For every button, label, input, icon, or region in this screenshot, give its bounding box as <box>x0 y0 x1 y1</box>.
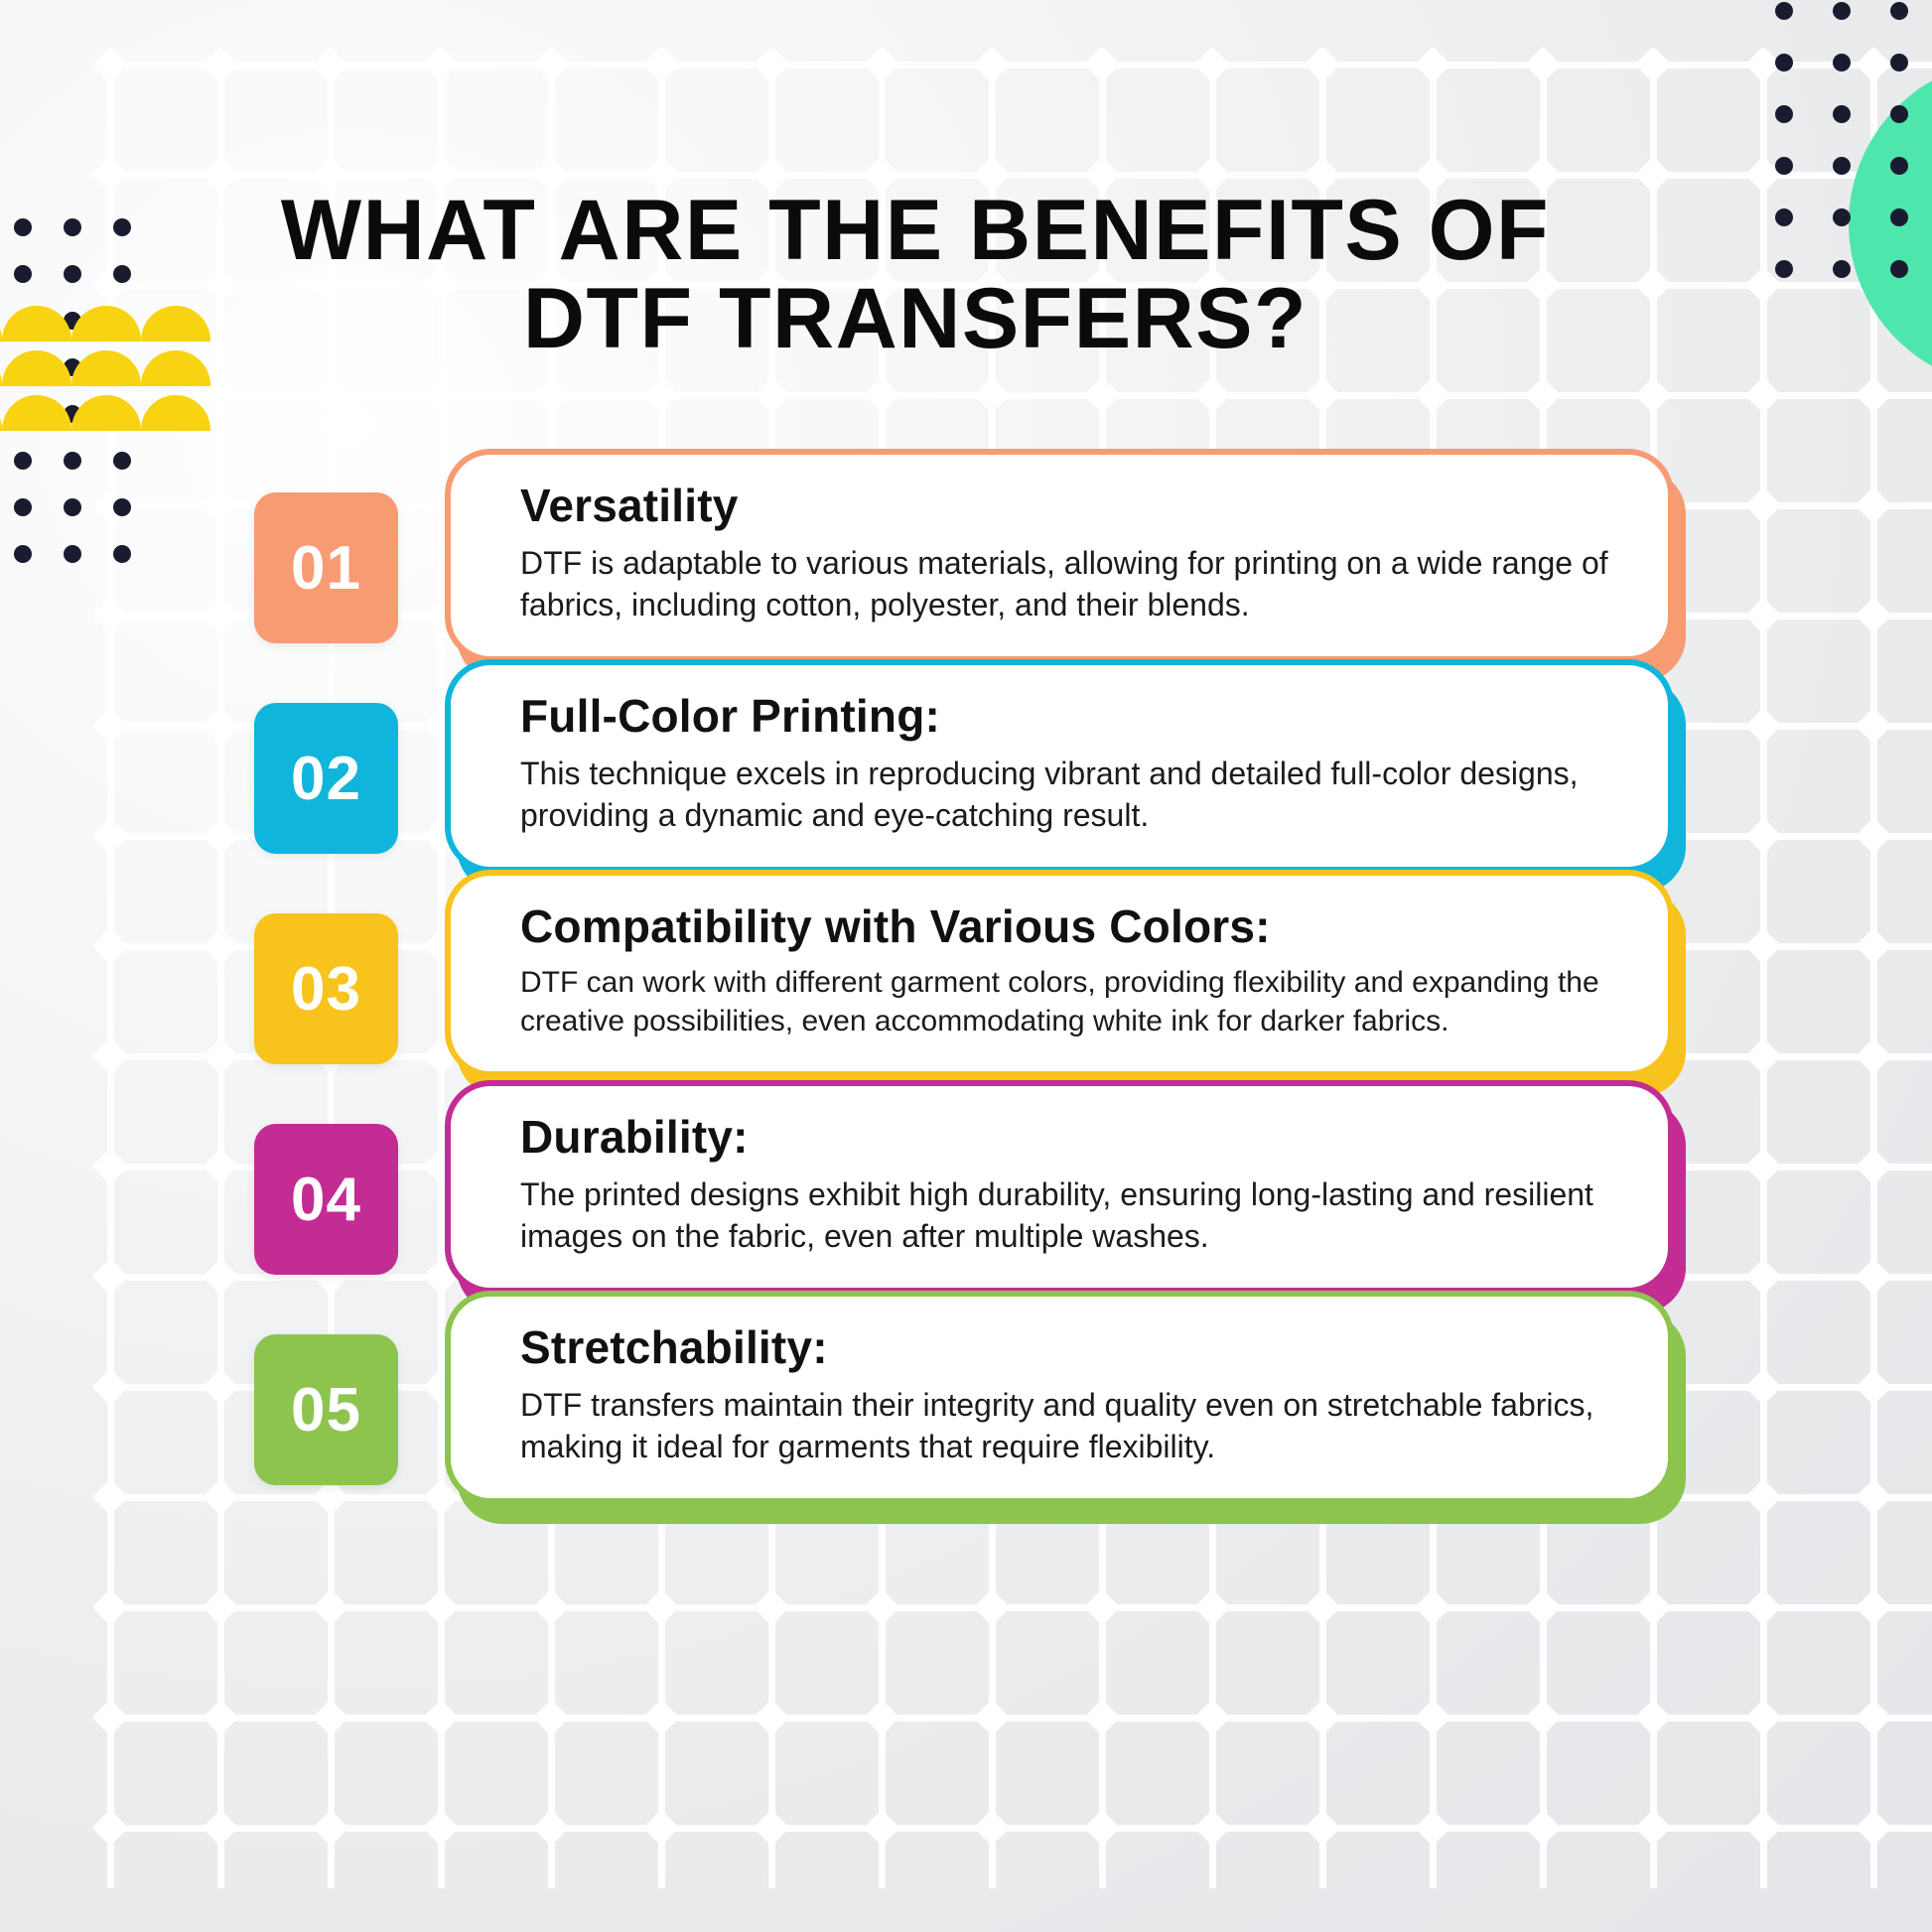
decorative-dot <box>64 358 81 376</box>
yellow-semicircle <box>71 395 141 431</box>
yellow-semicircle <box>2 395 71 431</box>
card-body-text: This technique excels in reproducing vib… <box>520 753 1624 837</box>
grid-diamond <box>864 1700 900 1736</box>
decorative-dot <box>1833 54 1851 71</box>
grid-diamond <box>92 1700 129 1736</box>
grid-diamond <box>313 47 349 83</box>
grid-diamond <box>1084 47 1121 83</box>
card-number-text: 05 <box>291 1375 361 1446</box>
card-panel: Stretchability:DTF transfers maintain th… <box>445 1291 1674 1504</box>
decorative-dot <box>14 405 32 423</box>
grid-diamond <box>92 377 129 414</box>
grid-diamond <box>1635 267 1672 304</box>
grid-diamond <box>1194 1589 1231 1626</box>
card-panel: Full-Color Printing:This technique excel… <box>445 659 1674 873</box>
decorative-dot <box>64 218 81 236</box>
grid-diamond <box>1305 47 1341 83</box>
decorative-dot <box>64 312 81 330</box>
decorative-dot <box>14 358 32 376</box>
card-number-badge: 05 <box>254 1334 398 1485</box>
grid-diamond <box>643 47 680 83</box>
decorative-dot <box>1775 208 1793 226</box>
card-body-text: DTF transfers maintain their integrity a… <box>520 1384 1624 1468</box>
grid-diamond <box>864 377 900 414</box>
page-title: WHAT ARE THE BENEFITS OF DTF TRANSFERS? <box>210 187 1620 364</box>
grid-diamond <box>1856 1700 1892 1736</box>
grid-diamond <box>1745 1700 1782 1736</box>
card-number-badge: 04 <box>254 1124 398 1275</box>
card-body-text: DTF is adaptable to various materials, a… <box>520 542 1624 626</box>
grid-diamond <box>864 1589 900 1626</box>
grid-diamond <box>1525 1700 1562 1736</box>
decorative-dot <box>14 312 32 330</box>
card-number-text: 03 <box>291 954 361 1025</box>
grid-diamond <box>1084 377 1121 414</box>
decorative-dot <box>1833 105 1851 123</box>
grid-diamond <box>1194 377 1231 414</box>
grid-diamond <box>1194 47 1231 83</box>
grid-diamond <box>1856 47 1892 83</box>
decorative-dot <box>113 218 131 236</box>
grid-diamond <box>1415 1589 1451 1626</box>
grid-diamond <box>92 1810 129 1847</box>
grid-diamond <box>203 47 239 83</box>
grid-diamond <box>643 1700 680 1736</box>
grid-diamond <box>1635 47 1672 83</box>
grid-diamond <box>1415 377 1451 414</box>
grid-diamond <box>1745 267 1782 304</box>
grid-diamond <box>1525 1589 1562 1626</box>
card-heading: Durability: <box>520 1112 1624 1164</box>
card-number-text: 02 <box>291 744 361 814</box>
grid-diamond <box>1635 1810 1672 1847</box>
grid-diamond <box>1415 1700 1451 1736</box>
grid-diamond <box>423 47 460 83</box>
grid-diamond <box>1635 1589 1672 1626</box>
decorative-dot <box>113 265 131 283</box>
card-panel-wrapper: Stretchability:DTF transfers maintain th… <box>445 1291 1674 1504</box>
grid-diamond <box>313 1700 349 1736</box>
card-heading: Stretchability: <box>520 1322 1624 1374</box>
grid-diamond <box>1525 377 1562 414</box>
grid-diamond <box>1305 1700 1341 1736</box>
decorative-dot <box>113 405 131 423</box>
grid-diamond <box>1745 47 1782 83</box>
card-heading: Compatibility with Various Colors: <box>520 901 1624 953</box>
yellow-semicircle <box>0 350 2 386</box>
yellow-semicircle <box>141 306 210 342</box>
grid-diamond <box>1305 377 1341 414</box>
grid-diamond <box>203 1700 239 1736</box>
grid-diamond <box>1415 1810 1451 1847</box>
grid-diamond <box>1305 1810 1341 1847</box>
grid-diamond <box>1084 1700 1121 1736</box>
benefit-card: 05Stretchability:DTF transfers maintain … <box>0 1291 1932 1551</box>
card-heading: Versatility <box>520 481 1624 532</box>
decorative-dot <box>1890 54 1908 71</box>
decorative-dot <box>14 265 32 283</box>
grid-diamond <box>1745 1810 1782 1847</box>
grid-diamond <box>203 377 239 414</box>
yellow-semicircle <box>2 350 71 386</box>
decorative-dot <box>1775 2 1793 20</box>
grid-diamond <box>1525 47 1562 83</box>
grid-diamond <box>1635 157 1672 194</box>
grid-diamond <box>533 377 570 414</box>
card-panel-wrapper: Full-Color Printing:This technique excel… <box>445 659 1674 873</box>
yellow-semicircle <box>141 395 210 431</box>
grid-diamond <box>1194 1700 1231 1736</box>
decorative-dot <box>64 405 81 423</box>
grid-diamond <box>1635 1700 1672 1736</box>
card-number-badge: 03 <box>254 913 398 1064</box>
card-panel: Compatibility with Various Colors:DTF ca… <box>445 870 1674 1077</box>
card-number-text: 01 <box>291 533 361 604</box>
grid-diamond <box>92 47 129 83</box>
grid-diamond <box>1745 1589 1782 1626</box>
decorative-dot <box>1775 105 1793 123</box>
grid-diamond <box>423 1810 460 1847</box>
grid-diamond <box>864 47 900 83</box>
decorative-dot <box>113 312 131 330</box>
grid-diamond <box>1635 377 1672 414</box>
yellow-semicircle <box>141 350 210 386</box>
decorative-dot <box>1833 157 1851 175</box>
grid-diamond <box>754 1810 790 1847</box>
grid-diamond <box>203 1589 239 1626</box>
decorative-dot <box>1833 260 1851 278</box>
grid-diamond <box>533 1810 570 1847</box>
grid-diamond <box>92 1589 129 1626</box>
decorative-dot <box>1833 2 1851 20</box>
grid-diamond <box>1084 1810 1121 1847</box>
card-panel-wrapper: Durability:The printed designs exhibit h… <box>445 1080 1674 1294</box>
grid-diamond <box>754 377 790 414</box>
yellow-semicircle <box>0 306 2 342</box>
grid-diamond <box>1856 1589 1892 1626</box>
grid-diamond <box>313 1810 349 1847</box>
decorative-dot <box>14 218 32 236</box>
grid-diamond <box>1856 377 1892 414</box>
card-panel: Durability:The printed designs exhibit h… <box>445 1080 1674 1294</box>
grid-diamond <box>754 1700 790 1736</box>
grid-diamond <box>313 1589 349 1626</box>
decorative-dot <box>1775 260 1793 278</box>
card-number-badge: 02 <box>254 703 398 854</box>
grid-diamond <box>1415 47 1451 83</box>
grid-diamond <box>533 47 570 83</box>
card-number-badge: 01 <box>254 492 398 643</box>
grid-diamond <box>1856 1810 1892 1847</box>
grid-diamond <box>1745 157 1782 194</box>
grid-diamond <box>974 1589 1011 1626</box>
card-panel-wrapper: VersatilityDTF is adaptable to various m… <box>445 449 1674 662</box>
decorative-dot <box>1890 2 1908 20</box>
grid-diamond <box>423 1700 460 1736</box>
decorative-dot <box>113 358 131 376</box>
card-body-text: The printed designs exhibit high durabil… <box>520 1173 1624 1258</box>
yellow-semicircle-cluster <box>0 0 218 248</box>
grid-diamond <box>864 1810 900 1847</box>
grid-diamond <box>643 1589 680 1626</box>
teal-circle-decoration <box>1849 60 1932 387</box>
yellow-semicircle <box>71 306 141 342</box>
grid-diamond <box>1305 1589 1341 1626</box>
yellow-semicircle <box>0 395 2 431</box>
grid-diamond <box>974 377 1011 414</box>
grid-diamond <box>313 377 349 414</box>
grid-diamond <box>1194 1810 1231 1847</box>
grid-diamond <box>92 267 129 304</box>
grid-diamond <box>533 1589 570 1626</box>
grid-diamond <box>423 377 460 414</box>
yellow-semicircle <box>71 350 141 386</box>
grid-diamond <box>203 1810 239 1847</box>
decorative-dot <box>64 265 81 283</box>
grid-diamond <box>974 47 1011 83</box>
grid-diamond <box>92 157 129 194</box>
grid-diamond <box>1084 1589 1121 1626</box>
yellow-semicircle <box>2 306 71 342</box>
grid-diamond <box>533 1700 570 1736</box>
grid-diamond <box>1525 1810 1562 1847</box>
grid-diamond <box>754 47 790 83</box>
grid-diamond <box>643 1810 680 1847</box>
decorative-dot <box>1775 54 1793 71</box>
card-body-text: DTF can work with different garment colo… <box>520 963 1624 1042</box>
card-panel-wrapper: Compatibility with Various Colors:DTF ca… <box>445 870 1674 1077</box>
card-number-text: 04 <box>291 1165 361 1235</box>
card-heading: Full-Color Printing: <box>520 691 1624 743</box>
infographic-poster: WHAT ARE THE BENEFITS OF DTF TRANSFERS? … <box>0 0 1932 1932</box>
grid-diamond <box>1745 377 1782 414</box>
card-panel: VersatilityDTF is adaptable to various m… <box>445 449 1674 662</box>
decorative-dot <box>1775 157 1793 175</box>
grid-diamond <box>423 1589 460 1626</box>
grid-diamond <box>754 1589 790 1626</box>
grid-diamond <box>974 1700 1011 1736</box>
grid-diamond <box>643 377 680 414</box>
grid-diamond <box>974 1810 1011 1847</box>
